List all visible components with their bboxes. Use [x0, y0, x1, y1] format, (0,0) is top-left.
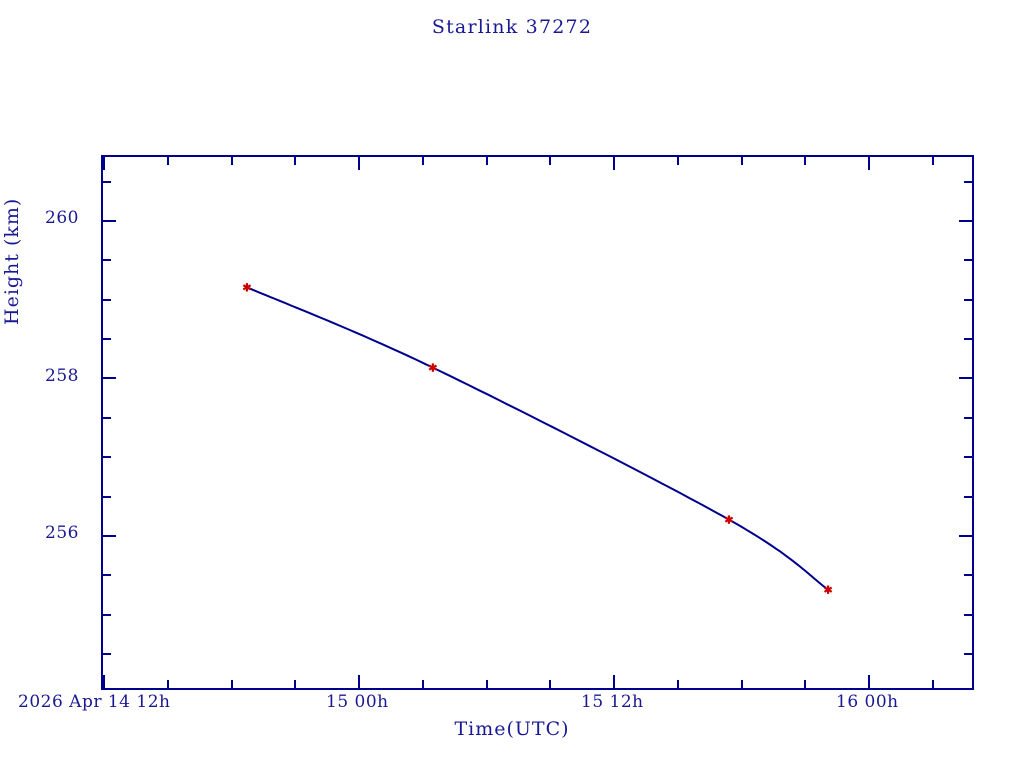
x-major-tick-3: [868, 675, 870, 688]
y-major-tick-260-right: [959, 220, 972, 222]
x-minor-tick-top: [932, 157, 934, 165]
x-tick-label-3: 16 00h: [836, 692, 899, 712]
x-minor-tick: [549, 680, 551, 688]
x-major-tick-0-top: [103, 157, 105, 170]
chart-canvas: Starlink 37272 260 258 256 Height (km) 2…: [0, 0, 1024, 768]
y-tick-label-256: 256: [29, 523, 79, 543]
x-tick-label-1: 15 00h: [326, 692, 389, 712]
y-major-tick-258-right: [959, 377, 972, 379]
x-minor-tick-top: [294, 157, 296, 165]
y-axis-title-text: Height (km): [1, 198, 23, 325]
page-title: Starlink 37272: [0, 16, 1024, 38]
y-minor-tick-right: [964, 456, 972, 458]
x-minor-tick: [167, 680, 169, 688]
y-minor-tick-right: [964, 614, 972, 616]
x-minor-tick: [932, 680, 934, 688]
y-major-tick-256-right: [959, 535, 972, 537]
y-minor-tick: [103, 181, 111, 183]
y-minor-tick: [103, 259, 111, 261]
y-minor-tick: [103, 338, 111, 340]
y-major-tick-258: [103, 377, 116, 379]
x-major-tick-1-top: [358, 157, 360, 170]
x-tick-label-0: 2026 Apr 14 12h: [18, 692, 170, 712]
x-major-tick-2-top: [613, 157, 615, 170]
x-minor-tick: [486, 680, 488, 688]
y-minor-tick: [103, 456, 111, 458]
x-major-tick-3-top: [868, 157, 870, 170]
y-axis-title: Height (km): [1, 289, 23, 325]
y-major-tick-256: [103, 535, 116, 537]
y-minor-tick: [103, 299, 111, 301]
x-axis-title: Time(UTC): [0, 718, 1024, 740]
x-major-tick-2: [613, 675, 615, 688]
x-minor-tick: [677, 680, 679, 688]
y-minor-tick-right: [964, 417, 972, 419]
x-minor-tick-top: [486, 157, 488, 165]
x-minor-tick-top: [167, 157, 169, 165]
x-minor-tick: [804, 680, 806, 688]
y-minor-tick-right: [964, 259, 972, 261]
y-minor-tick-right: [964, 338, 972, 340]
y-minor-tick: [103, 574, 111, 576]
x-minor-tick-top: [549, 157, 551, 165]
x-minor-tick: [741, 680, 743, 688]
y-tick-label-258: 258: [29, 366, 79, 386]
y-tick-label-260: 260: [29, 208, 79, 228]
x-minor-tick: [422, 680, 424, 688]
y-minor-tick-right: [964, 496, 972, 498]
x-minor-tick-top: [231, 157, 233, 165]
x-minor-tick: [231, 680, 233, 688]
plot-area: [101, 155, 974, 690]
y-minor-tick-right: [964, 299, 972, 301]
x-tick-label-2: 15 12h: [581, 692, 644, 712]
x-minor-tick-top: [804, 157, 806, 165]
x-minor-tick-top: [677, 157, 679, 165]
y-minor-tick-right: [964, 181, 972, 183]
x-minor-tick-top: [422, 157, 424, 165]
y-minor-tick: [103, 496, 111, 498]
y-minor-tick-right: [964, 574, 972, 576]
y-minor-tick: [103, 417, 111, 419]
x-minor-tick-top: [741, 157, 743, 165]
x-major-tick-0: [103, 675, 105, 688]
y-minor-tick-right: [964, 653, 972, 655]
x-minor-tick: [294, 680, 296, 688]
x-major-tick-1: [358, 675, 360, 688]
y-minor-tick: [103, 614, 111, 616]
y-minor-tick: [103, 653, 111, 655]
y-major-tick-260: [103, 220, 116, 222]
